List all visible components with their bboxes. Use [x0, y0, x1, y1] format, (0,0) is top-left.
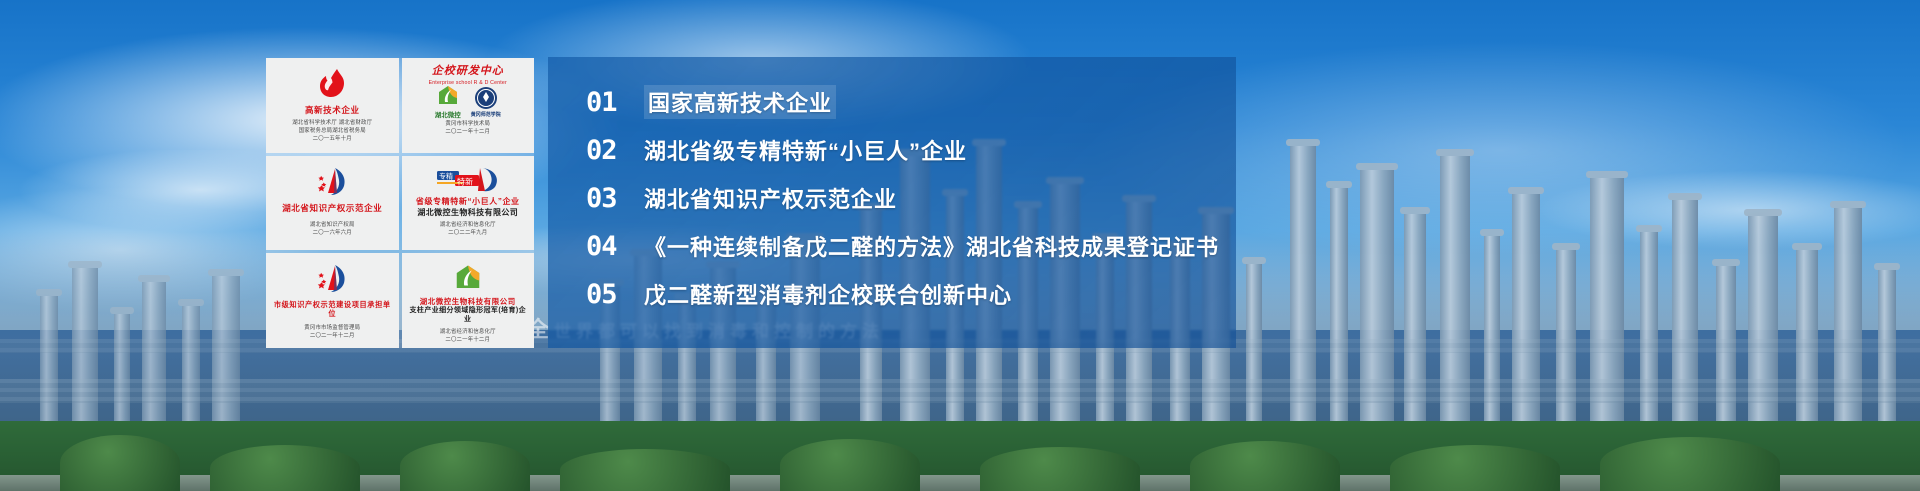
certificate-card[interactable]: 专精 特新 省级专精特新“小巨人”企业 湖北微控生物科技有限公司 湖北省经济和信… — [402, 156, 535, 251]
honor-number: 01 — [586, 89, 644, 116]
huanggang-normal-university-icon: 黄冈师范学院 — [471, 86, 501, 118]
honor-list-item[interactable]: 03 湖北省知识产权示范企业 — [586, 174, 1246, 222]
badge-label: 黄冈师范学院 — [471, 111, 501, 118]
certificate-title: 高新技术企业 — [305, 105, 360, 116]
ip-sail-icon — [315, 260, 349, 298]
certificate-card[interactable]: 市级知识产权示范建设项目承担单位 黄冈市市场监督管理局 二〇二一年十二月 — [266, 253, 399, 348]
certificate-date: 二〇二一年十二月 — [445, 128, 490, 136]
specialized-new-icon-svg: 专精 特新 — [433, 165, 503, 193]
weikong-green-icon: 湖北微控 — [435, 84, 461, 119]
banner-stage: 全世界都可以找到消毒和控制的方法 高新技术企业 湖北省科学技术厅 湖北省财政厅 … — [0, 0, 1920, 491]
certificate-title: 市级知识产权示范建设项目承担单位 — [271, 300, 394, 318]
bush — [1390, 445, 1560, 491]
honor-list: 01 国家高新技术企业 02 湖北省级专精特新“小巨人”企业 03 湖北省知识产… — [586, 78, 1246, 318]
honor-number: 05 — [586, 281, 644, 308]
ip-sail-icon-svg — [315, 166, 349, 198]
weikong-green-icon — [453, 260, 483, 295]
certificate-date: 二〇一五年十月 — [292, 135, 372, 143]
certificate-title: 湖北省知识产权示范企业 — [282, 203, 382, 214]
certificate-date: 二〇二二年九月 — [440, 229, 496, 237]
certificate-card[interactable]: 湖北省知识产权示范企业 湖北省知识产权局 二〇一六年六月 — [266, 156, 399, 251]
certificate-grid: 高新技术企业 湖北省科学技术厅 湖北省财政厅 国家税务总局湖北省税务局 二〇一五… — [266, 58, 534, 348]
honor-list-item[interactable]: 02 湖北省级专精特新“小巨人”企业 — [586, 126, 1246, 174]
certificate-issuer-1: 黄冈市市场监督管理局 — [304, 324, 360, 332]
university-seal-icon-svg — [474, 86, 498, 110]
honor-text: 国家高新技术企业 — [644, 85, 836, 119]
certificate-subtitle: 湖北微控生物科技有限公司 — [417, 208, 518, 218]
certificate-title: 湖北微控生物科技有限公司 — [420, 297, 516, 306]
honor-text: 《一种连续制备戊二醛的方法》湖北省科技成果登记证书 — [644, 230, 1219, 262]
ip-sail-icon — [315, 163, 349, 201]
certificate-meta: 黄冈市科学技术局 二〇二一年十二月 — [445, 120, 490, 136]
weikong-green-icon-svg — [436, 84, 460, 108]
certificate-issuer-1: 湖北省经济和信息化厅 — [440, 328, 496, 336]
certificate-title: 省级专精特新“小巨人”企业 — [416, 197, 520, 207]
certificate-title: 企校研发中心 — [432, 65, 504, 79]
svg-text:特新: 特新 — [457, 176, 473, 186]
certificate-meta: 湖北省经济和信息化厅 二〇二二年九月 — [440, 221, 496, 237]
certificate-card[interactable]: 湖北微控生物科技有限公司 支柱产业细分领域隐形冠军(培育)企业 湖北省经济和信息… — [402, 253, 535, 348]
bush — [400, 441, 530, 491]
bush — [210, 445, 360, 491]
certificate-meta: 黄冈市市场监督管理局 二〇二一年十二月 — [304, 324, 360, 340]
honor-number: 04 — [586, 233, 644, 260]
certificate-issuer-1: 湖北省科学技术厅 湖北省财政厅 — [292, 119, 372, 127]
honor-list-item[interactable]: 01 国家高新技术企业 — [586, 78, 1246, 126]
certificate-meta: 湖北省经济和信息化厅 二〇二一年十二月 — [440, 328, 496, 344]
honor-list-item[interactable]: 04 《一种连续制备戊二醛的方法》湖北省科技成果登记证书 — [586, 222, 1246, 270]
flame-icon — [317, 65, 347, 103]
certificate-meta: 湖北省知识产权局 二〇一六年六月 — [310, 221, 355, 237]
badge-label: 湖北微控 — [435, 109, 461, 119]
bush — [60, 435, 180, 491]
certificate-date: 二〇二一年十二月 — [304, 332, 360, 340]
bush — [980, 447, 1140, 491]
certificate-issuer-1: 黄冈市科学技术局 — [445, 120, 490, 128]
certificate-logos: 湖北微控 黄冈师范学院 — [435, 87, 501, 117]
bush — [780, 439, 920, 491]
certificate-subtitle: 支柱产业细分领域隐形冠军(培育)企业 — [407, 307, 530, 325]
flame-icon-svg — [317, 68, 347, 100]
honor-text: 湖北省知识产权示范企业 — [644, 182, 897, 214]
certificate-meta: 湖北省科学技术厅 湖北省财政厅 国家税务总局湖北省税务局 二〇一五年十月 — [292, 119, 372, 143]
honor-text: 戊二醛新型消毒剂企校联合创新中心 — [644, 278, 1012, 310]
certificate-card[interactable]: 高新技术企业 湖北省科学技术厅 湖北省财政厅 国家税务总局湖北省税务局 二〇一五… — [266, 58, 399, 153]
weikong-green-icon-svg — [453, 263, 483, 293]
honor-list-item[interactable]: 05 戊二醛新型消毒剂企校联合创新中心 — [586, 270, 1246, 318]
certificate-issuer-1: 湖北省经济和信息化厅 — [440, 221, 496, 229]
bush — [1600, 437, 1780, 491]
bush — [1190, 441, 1340, 491]
honor-text: 湖北省级专精特新“小巨人”企业 — [644, 134, 967, 166]
certificate-date: 二〇二一年十二月 — [440, 336, 496, 344]
honor-number: 03 — [586, 185, 644, 212]
ip-sail-icon-svg — [315, 263, 349, 295]
certificate-card[interactable]: 企校研发中心 Enterprise school R & D Center 湖北… — [402, 58, 535, 153]
specialized-new-icon: 专精 特新 — [433, 163, 503, 195]
svg-text:专精: 专精 — [439, 171, 453, 180]
certificate-issuer-1: 湖北省知识产权局 — [310, 221, 355, 229]
bush — [560, 449, 730, 491]
honor-number: 02 — [586, 137, 644, 164]
certificate-date: 二〇一六年六月 — [310, 229, 355, 237]
certificate-issuer-2: 国家税务总局湖北省税务局 — [292, 127, 372, 135]
